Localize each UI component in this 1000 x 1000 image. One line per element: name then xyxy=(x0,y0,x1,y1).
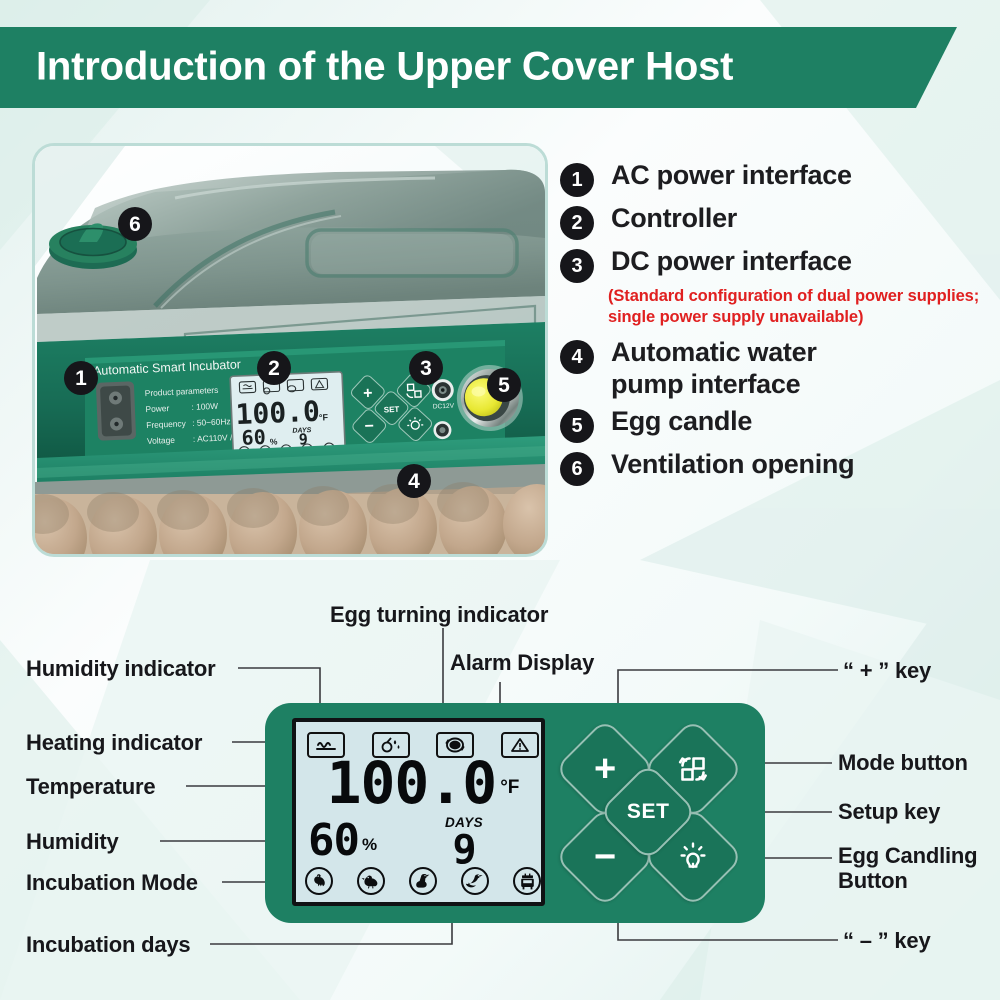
lcd-display: 100.0 °F 60 % DAYS 9 xyxy=(292,718,545,906)
lcd-days-group: DAYS 9 xyxy=(434,814,494,869)
mode-swap-icon xyxy=(676,752,710,786)
callout-incubation-days: Incubation days xyxy=(26,932,190,958)
svg-text:: 100W: : 100W xyxy=(191,401,218,412)
legend-number-4: 4 xyxy=(560,340,594,374)
legend-number-6: 6 xyxy=(560,452,594,486)
callout-setup-key: Setup key xyxy=(838,799,940,825)
keypad: + − xyxy=(565,721,750,906)
callout-egg-candling-button: Egg Candling Button xyxy=(838,844,998,893)
legend-number-5: 5 xyxy=(560,409,594,443)
lcd-humidity-value: 60 xyxy=(308,822,359,859)
lcd-temperature-row: 100.0 °F xyxy=(302,760,544,808)
legend-item-1: 1 AC power interface xyxy=(560,160,990,197)
lcd-second-row: 60 % DAYS 9 xyxy=(302,822,544,870)
alarm-display-icon xyxy=(501,732,539,758)
product-photo-card: Automatic Smart Incubator Product parame… xyxy=(32,143,548,557)
legend-label-2: Controller xyxy=(611,203,737,235)
callout-mode-button: Mode button xyxy=(838,750,968,776)
photo-badge-3: 3 xyxy=(409,351,443,385)
callout-incubation-mode: Incubation Mode xyxy=(26,870,198,896)
callout-humidity: Humidity xyxy=(26,829,119,855)
lcd-temperature-unit: °F xyxy=(500,777,519,799)
legend-item-2: 2 Controller xyxy=(560,203,990,240)
lcd-days-value: 9 xyxy=(434,832,494,869)
svg-text:Frequency: Frequency xyxy=(146,418,187,430)
legend-item-4: 4 Automatic water pump interface xyxy=(560,337,990,400)
incubator-icon xyxy=(513,867,541,895)
legend-number-2: 2 xyxy=(560,206,594,240)
svg-text:+: + xyxy=(363,385,373,402)
legend-label-5: Egg candle xyxy=(611,406,752,438)
photo-badge-4: 4 xyxy=(397,464,431,498)
svg-text:°F: °F xyxy=(319,412,329,422)
pheasant-icon xyxy=(461,867,489,895)
callout-plus-key: “ + ” key xyxy=(843,658,931,684)
svg-text:DC12V: DC12V xyxy=(433,403,455,411)
chicken-icon xyxy=(305,867,333,895)
photo-badge-5: 5 xyxy=(487,368,521,402)
header-banner: Introduction of the Upper Cover Host xyxy=(0,27,962,108)
control-panel: 100.0 °F 60 % DAYS 9 xyxy=(265,703,765,923)
photo-badge-2: 2 xyxy=(257,351,291,385)
svg-text:SET: SET xyxy=(384,405,400,415)
callout-humidity-indicator: Humidity indicator xyxy=(26,656,216,682)
callout-egg-turning-indicator: Egg turning indicator xyxy=(330,602,548,628)
page-title: Introduction of the Upper Cover Host xyxy=(36,44,733,89)
legend-item-3: 3 DC power interface xyxy=(560,246,990,283)
legend-label-3: DC power interface xyxy=(611,246,852,278)
lcd-humidity-group: 60 % xyxy=(308,822,377,859)
minus-key-label: − xyxy=(594,838,616,876)
photo-badge-1: 1 xyxy=(64,361,98,395)
svg-text:%: % xyxy=(270,436,278,446)
callout-temperature: Temperature xyxy=(26,774,155,800)
setup-key-label: SET xyxy=(627,800,670,824)
lcd-temperature-value: 100.0 xyxy=(327,760,497,808)
legend-label-6: Ventilation opening xyxy=(611,449,854,481)
legend-number-3: 3 xyxy=(560,249,594,283)
svg-text:−: − xyxy=(364,418,374,435)
legend-item-6: 6 Ventilation opening xyxy=(560,449,990,486)
svg-text:Voltage: Voltage xyxy=(147,435,176,446)
duck-icon xyxy=(357,867,385,895)
legend-label-4: Automatic water pump interface xyxy=(611,337,817,400)
lcd-humidity-unit: % xyxy=(362,835,377,855)
legend-number-1: 1 xyxy=(560,163,594,197)
egg-candling-bulb-icon xyxy=(676,840,710,874)
callout-minus-key: “ – ” key xyxy=(843,928,930,954)
incubator-photo: Automatic Smart Incubator Product parame… xyxy=(35,146,545,554)
svg-text:: 50~60Hz: : 50~60Hz xyxy=(192,416,231,428)
legend-note: (Standard configuration of dual power su… xyxy=(608,286,990,328)
goose-icon xyxy=(409,867,437,895)
photo-badge-6: 6 xyxy=(118,207,152,241)
legend-item-5: 5 Egg candle xyxy=(560,406,990,443)
plus-key-label: + xyxy=(594,750,616,788)
lcd-incubation-mode-row xyxy=(305,866,541,896)
legend-label-1: AC power interface xyxy=(611,160,852,192)
legend-list: 1 AC power interface 2 Controller 3 DC p… xyxy=(560,160,990,492)
callout-alarm-display: Alarm Display xyxy=(450,650,594,676)
svg-text:Power: Power xyxy=(145,403,169,414)
callout-heating-indicator: Heating indicator xyxy=(26,730,202,756)
